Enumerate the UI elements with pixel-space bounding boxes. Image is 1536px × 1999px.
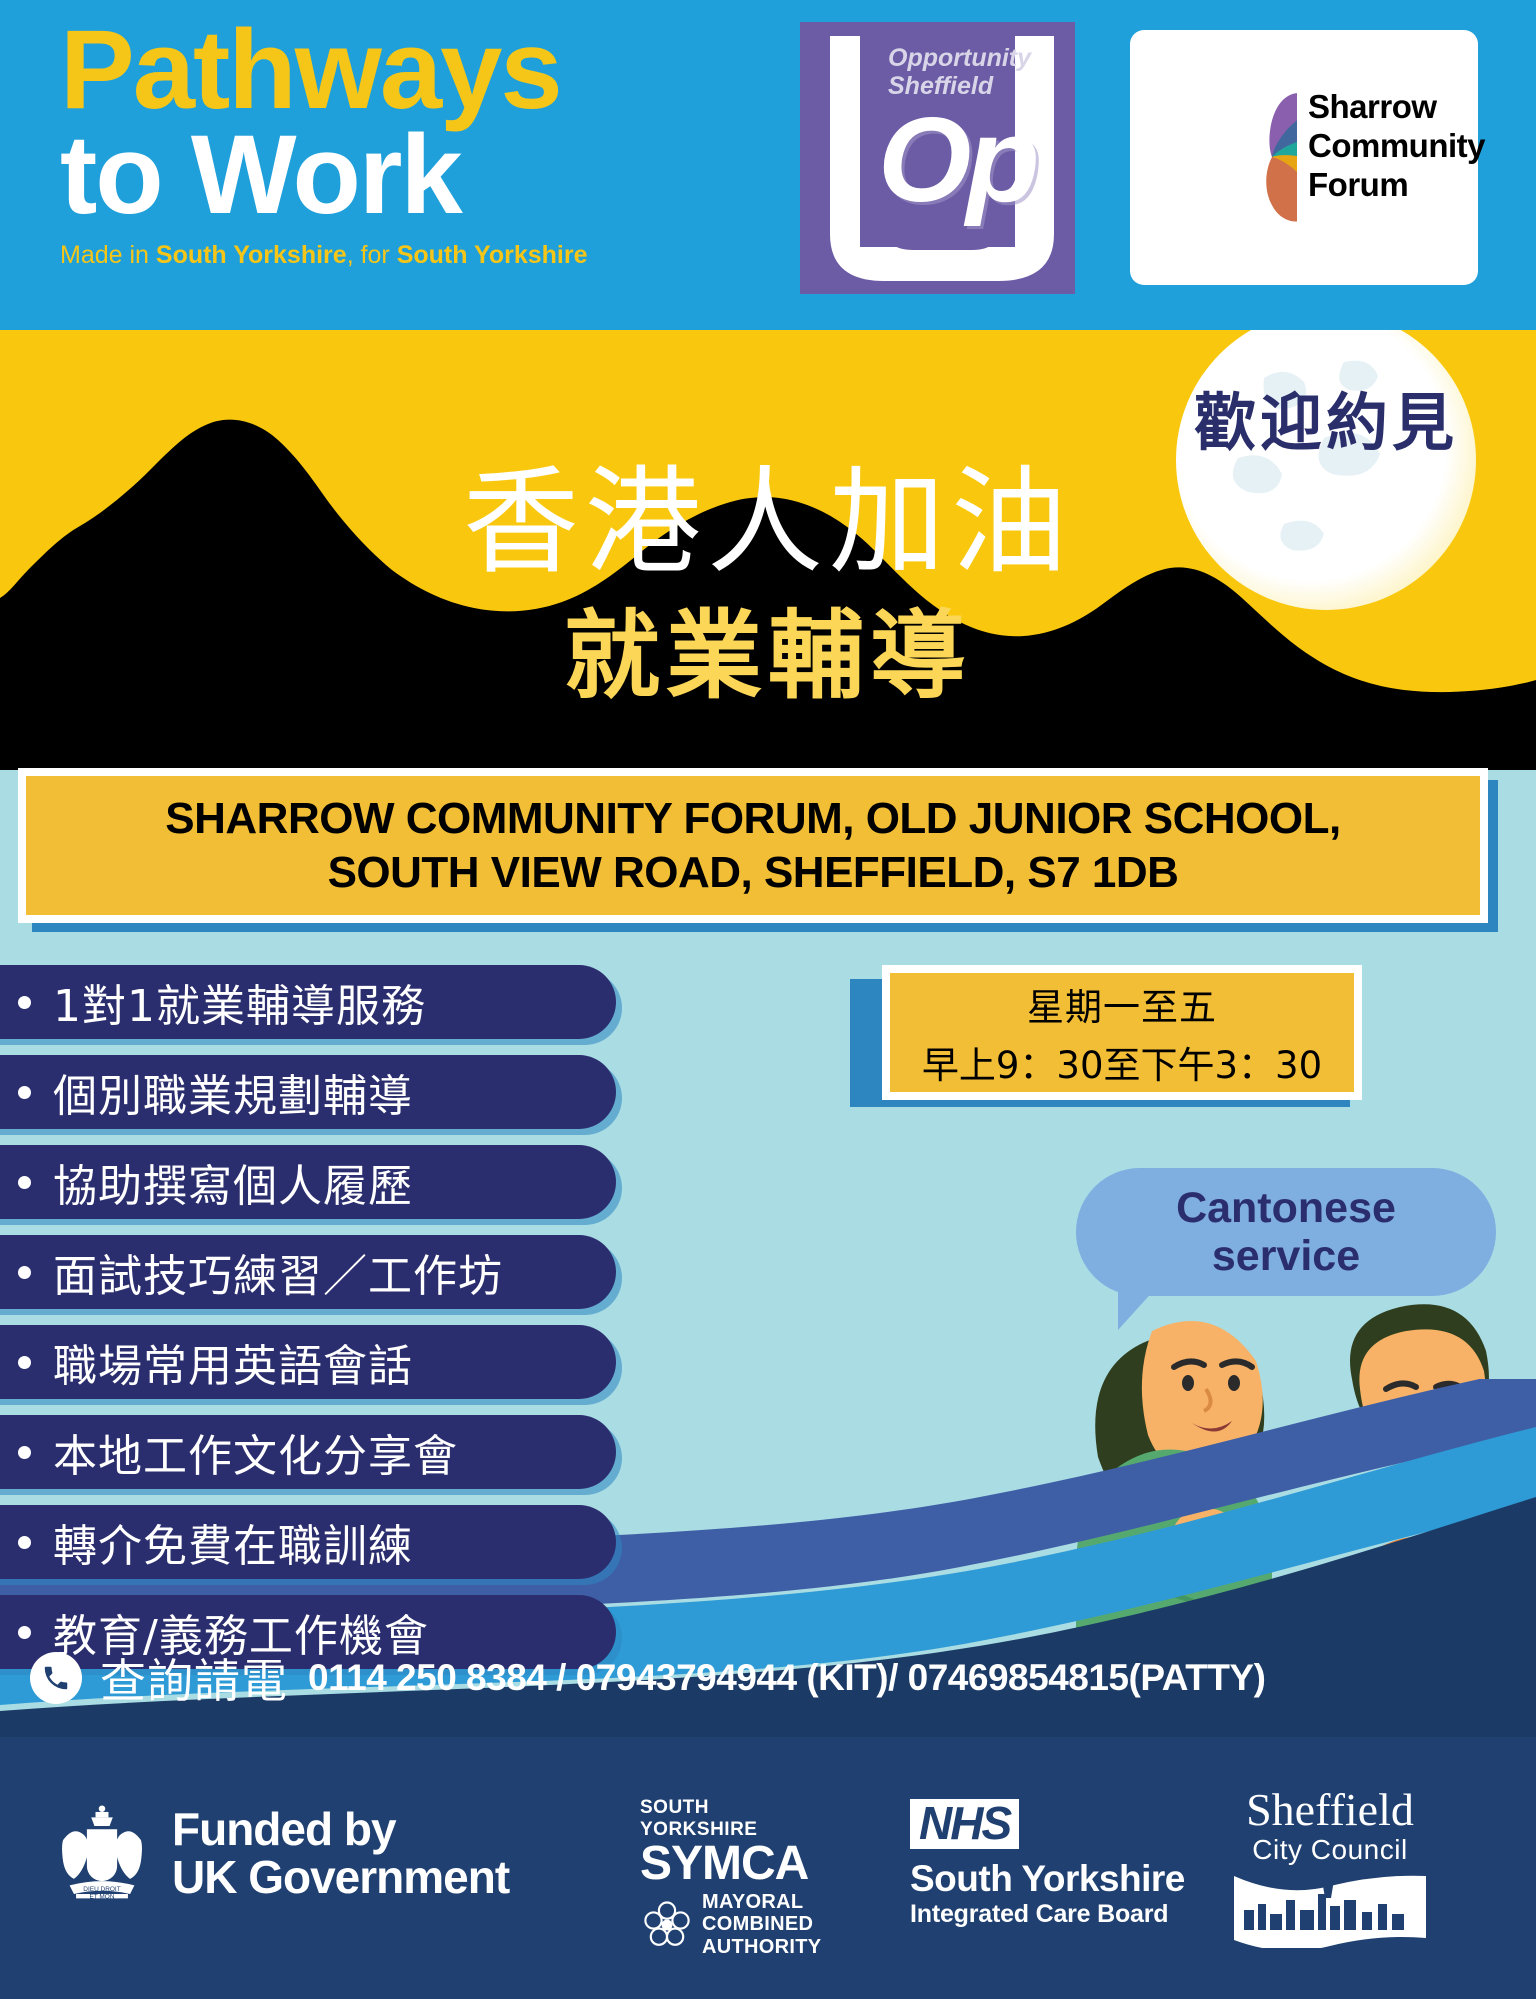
sheffield-city-council-logo: Sheffield City Council bbox=[1210, 1787, 1450, 1953]
list-item: 1對1就業輔導服務 bbox=[0, 965, 616, 1039]
contact-row: 查詢請電 0114 250 8384 / 07943794944 (KIT)/ … bbox=[30, 1645, 1265, 1711]
bullet-dot-icon bbox=[18, 1356, 31, 1369]
woman-figure bbox=[1076, 1321, 1272, 1681]
sharrow-community-forum-logo: Sharrow Community Forum bbox=[1130, 30, 1478, 285]
service-label: 個別職業規劃輔導 bbox=[53, 1060, 413, 1124]
hours-times: 早上9：30至下午3：30 bbox=[922, 1035, 1322, 1089]
bubble-tail-icon bbox=[1118, 1288, 1156, 1330]
opportunity-sheffield-logo: Opportunity Sheffield Op bbox=[800, 22, 1075, 294]
address-line-2: SOUTH VIEW ROAD, SHEFFIELD, S7 1DB bbox=[165, 846, 1340, 900]
phone-icon bbox=[30, 1652, 82, 1704]
uk-government-logo: DIEU DROIT ET MON Funded by UK Governmen… bbox=[48, 1799, 509, 1907]
symca-sub-2: COMBINED bbox=[702, 1913, 821, 1935]
bullet-dot-icon bbox=[18, 996, 31, 1009]
scc-line-1: Sheffield bbox=[1210, 1787, 1450, 1833]
bullet-dot-icon bbox=[18, 1266, 31, 1279]
list-item: 轉介免費在職訓練 bbox=[0, 1505, 616, 1579]
service-label: 本地工作文化分享會 bbox=[53, 1420, 458, 1484]
brand-tagline: Made in South Yorkshire, for South Yorks… bbox=[60, 241, 680, 270]
tagline-pre: Made in bbox=[60, 241, 156, 269]
symca-mark-row: MAYORAL COMBINED AUTHORITY bbox=[640, 1891, 830, 1958]
sharrow-logo-text: Sharrow Community Forum bbox=[1308, 88, 1485, 205]
list-item: 協助撰寫個人履歷 bbox=[0, 1145, 616, 1219]
service-label: 面試技巧練習／工作坊 bbox=[53, 1240, 503, 1304]
opportunity-line-1: Opportunity bbox=[888, 44, 1058, 72]
funder-logos-row: DIEU DROIT ET MON Funded by UK Governmen… bbox=[0, 1799, 1536, 1999]
nhs-logo: NHS South Yorkshire Integrated Care Boar… bbox=[910, 1799, 1185, 1929]
sharrow-line-3: Forum bbox=[1308, 166, 1485, 205]
uk-gov-text: Funded by UK Government bbox=[172, 1805, 509, 1902]
symca-sub-1: MAYORAL bbox=[702, 1891, 821, 1913]
royal-coat-of-arms-icon: DIEU DROIT ET MON bbox=[48, 1799, 156, 1907]
service-label: 職場常用英語會話 bbox=[53, 1330, 413, 1394]
sheffield-skyline-icon bbox=[1230, 1866, 1430, 1948]
bullet-dot-icon bbox=[18, 1176, 31, 1189]
opportunity-sheffield-text: Opportunity Sheffield bbox=[888, 44, 1058, 100]
service-label: 1對1就業輔導服務 bbox=[53, 970, 426, 1034]
tagline-bold-2: South Yorkshire bbox=[397, 241, 588, 269]
hours-inner: 星期一至五 早上9：30至下午3：30 bbox=[890, 973, 1354, 1092]
bullet-dot-icon bbox=[18, 1086, 31, 1099]
address-box: SHARROW COMMUNITY FORUM, OLD JUNIOR SCHO… bbox=[26, 776, 1480, 915]
sharrow-line-1: Sharrow bbox=[1308, 88, 1485, 127]
uk-gov-line-1: Funded by bbox=[172, 1805, 509, 1853]
contact-numbers[interactable]: 0114 250 8384 / 07943794944 (KIT)/ 07469… bbox=[308, 1657, 1265, 1699]
sharrow-line-2: Community bbox=[1308, 127, 1485, 166]
scc-line-2: City Council bbox=[1210, 1834, 1450, 1866]
bubble-line-2: service bbox=[1212, 1232, 1360, 1280]
list-item: 面試技巧練習／工作坊 bbox=[0, 1235, 616, 1309]
service-label: 轉介免費在職訓練 bbox=[53, 1510, 413, 1574]
pathways-to-work-logo: Pathways to Work Made in South Yorkshire… bbox=[60, 18, 680, 270]
opportunity-op-mark: Op bbox=[878, 100, 1035, 220]
bullet-dot-icon bbox=[18, 1446, 31, 1459]
nhs-line-2: Integrated Care Board bbox=[910, 1900, 1185, 1929]
address-line-1: SHARROW COMMUNITY FORUM, OLD JUNIOR SCHO… bbox=[165, 792, 1340, 846]
address-text: SHARROW COMMUNITY FORUM, OLD JUNIOR SCHO… bbox=[149, 792, 1356, 899]
contact-label: 查詢請電 bbox=[100, 1645, 288, 1711]
symca-subtitle: MAYORAL COMBINED AUTHORITY bbox=[702, 1891, 821, 1958]
brand-line-1: Pathways bbox=[60, 18, 680, 121]
symca-sub-3: AUTHORITY bbox=[702, 1936, 821, 1958]
nhs-badge: NHS bbox=[910, 1799, 1019, 1849]
bullet-dot-icon bbox=[18, 1626, 31, 1639]
opening-hours-box: 星期一至五 早上9：30至下午3：30 bbox=[860, 965, 1360, 1100]
phone-glyph-icon bbox=[41, 1663, 71, 1693]
bullet-dot-icon bbox=[18, 1536, 31, 1549]
yorkshire-rose-icon bbox=[640, 1898, 694, 1952]
list-item: 本地工作文化分享會 bbox=[0, 1415, 616, 1489]
list-item: 職場常用英語會話 bbox=[0, 1325, 616, 1399]
svg-text:ET MON: ET MON bbox=[89, 1893, 114, 1900]
address-banner: SHARROW COMMUNITY FORUM, OLD JUNIOR SCHO… bbox=[18, 768, 1498, 933]
header-bar: Pathways to Work Made in South Yorkshire… bbox=[0, 0, 1536, 330]
symca-acronym: SYMCA bbox=[640, 1841, 830, 1887]
hero-section: 歡迎約見 香港人加油 就業輔導 bbox=[0, 330, 1536, 770]
tagline-mid: , for bbox=[347, 241, 397, 269]
list-item: 個別職業規劃輔導 bbox=[0, 1055, 616, 1129]
uk-gov-line-2: UK Government bbox=[172, 1853, 509, 1901]
nhs-line-1: South Yorkshire bbox=[910, 1858, 1185, 1900]
footer-bar: 查詢請電 0114 250 8384 / 07943794944 (KIT)/ … bbox=[0, 1737, 1536, 1999]
hero-headline: 香港人加油 bbox=[0, 428, 1536, 596]
hours-days: 星期一至五 bbox=[1027, 977, 1217, 1031]
poster-root: Pathways to Work Made in South Yorkshire… bbox=[0, 0, 1536, 1999]
hero-subheadline: 就業輔導 bbox=[0, 578, 1536, 717]
cantonese-service-bubble: Cantonese service bbox=[1076, 1168, 1496, 1296]
bubble-line-1: Cantonese bbox=[1176, 1184, 1396, 1232]
svg-text:DIEU DROIT: DIEU DROIT bbox=[83, 1886, 120, 1893]
services-list: 1對1就業輔導服務 個別職業規劃輔導 協助撰寫個人履歷 面試技巧練習／工作坊 職… bbox=[0, 965, 616, 1685]
sharrow-petals-icon bbox=[1152, 52, 1297, 262]
service-label: 協助撰寫個人履歷 bbox=[53, 1150, 413, 1214]
brand-line-2: to Work bbox=[60, 121, 680, 229]
symca-logo: SOUTH YORKSHIRE SYMCA MAYORAL COMBINED bbox=[640, 1797, 830, 1958]
symca-top-label: SOUTH YORKSHIRE bbox=[640, 1797, 830, 1841]
tagline-bold-1: South Yorkshire bbox=[156, 241, 347, 269]
